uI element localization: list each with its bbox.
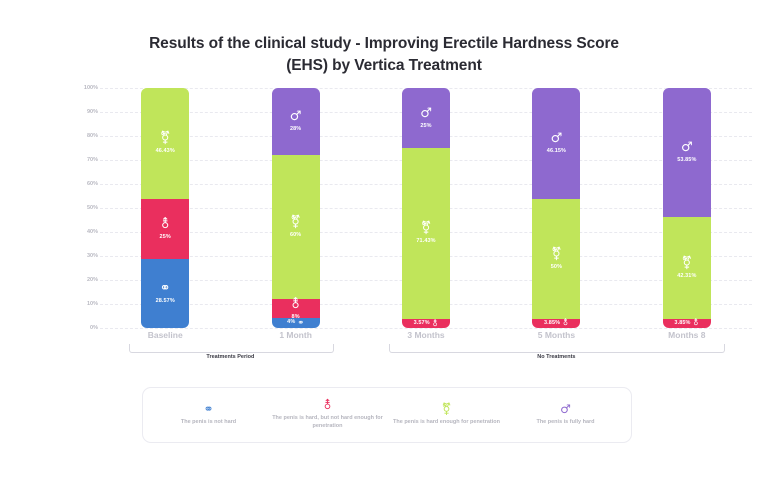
- bar-stack: ♂28%⚧60%⚨8%4%⚭: [272, 88, 320, 328]
- x-axis-labels: Baseline1 Month3 Months5 MonthsMonths 8: [100, 330, 752, 340]
- y-axis-tick-label: 50%: [87, 205, 98, 211]
- bar-stack: ♂46.15%⚧50%3.85%⚨: [532, 88, 580, 328]
- segment-value-label: 50%: [551, 265, 562, 271]
- bracket-line: [129, 344, 334, 353]
- legend-item[interactable]: ⚧The penis is hard enough for penetratio…: [387, 403, 506, 427]
- bar-stack: ♂53.85%⚧42.31%3.85%⚨: [663, 88, 711, 328]
- chart-title-line-2: (EHS) by Vertica Treatment: [0, 55, 768, 77]
- bar-segment[interactable]: ♂28%: [272, 88, 320, 155]
- bar-stack: ⚧46.43%⚨25%⚭28.57%: [141, 88, 189, 328]
- chart-legend: ⚭The penis is not hard⚨The penis is hard…: [142, 387, 632, 443]
- gender-symbol-icon: ⚧: [421, 222, 432, 235]
- legend-symbol-icon: ⚨: [322, 399, 332, 411]
- gender-symbol-icon: ⚧: [551, 248, 562, 261]
- gender-symbol-icon: ♂: [290, 110, 302, 123]
- bar-segment[interactable]: ♂46.15%: [532, 88, 580, 199]
- segment-value-label: 3.85%: [544, 321, 560, 327]
- segment-value-label: 46.15%: [547, 149, 566, 155]
- gender-symbol-icon: ♂: [681, 141, 693, 154]
- gender-symbol-icon: ♂: [551, 132, 563, 145]
- y-axis-tick-label: 60%: [87, 181, 98, 187]
- bar-stack: ♂25%⚧71.43%3.57%⚨: [402, 88, 450, 328]
- legend-symbol-icon: ⚭: [203, 403, 213, 415]
- legend-symbol-icon: ⚧: [441, 403, 451, 415]
- legend-item-label: The penis is hard enough for penetration: [393, 419, 500, 427]
- bar-segment[interactable]: 3.85%⚨: [532, 319, 580, 328]
- period-brackets: Treatments PeriodNo Treatments: [100, 344, 752, 368]
- x-axis-category-label: Baseline: [100, 330, 230, 340]
- segment-value-label: 25%: [420, 124, 431, 130]
- gender-symbol-icon: ⚭: [297, 319, 304, 327]
- segment-value-label: 3.85%: [674, 321, 690, 327]
- bar-segment[interactable]: ⚧46.43%: [141, 88, 189, 199]
- legend-item[interactable]: ⚭The penis is not hard: [149, 403, 268, 427]
- gender-symbol-icon: ⚧: [290, 216, 301, 229]
- x-axis-category-label: 3 Months: [361, 330, 491, 340]
- legend-item-label: The penis is not hard: [181, 419, 236, 427]
- y-axis-tick-label: 30%: [87, 253, 98, 259]
- y-axis-tick-label: 20%: [87, 277, 98, 283]
- legend-item-label: The penis is fully hard: [536, 419, 594, 427]
- legend-item-label: The penis is hard, but not hard enough f…: [272, 415, 383, 431]
- bar-column[interactable]: ♂28%⚧60%⚨8%4%⚭: [230, 88, 360, 328]
- bar-segment[interactable]: 3.57%⚨: [402, 319, 450, 328]
- segment-value-label: 28.57%: [156, 299, 175, 305]
- plot-area: 100%90%80%70%60%50%40%30%20%10%0% ⚧46.43…: [0, 88, 768, 328]
- segment-value-label: 42.31%: [677, 274, 696, 280]
- legend-item[interactable]: ♂The penis is fully hard: [506, 403, 625, 427]
- y-axis: 100%90%80%70%60%50%40%30%20%10%0%: [58, 88, 98, 328]
- gender-symbol-icon: ⚧: [681, 257, 692, 270]
- bar-segment[interactable]: ♂25%: [402, 88, 450, 148]
- bracket-line: [389, 344, 725, 353]
- segment-value-label: 46.43%: [156, 149, 175, 155]
- bar-segment[interactable]: ⚭28.57%: [141, 259, 189, 328]
- legend-symbol-icon: ♂: [560, 403, 571, 415]
- gender-symbol-icon: ⚧: [160, 132, 171, 145]
- bar-segment[interactable]: 3.85%⚨: [663, 319, 711, 328]
- bar-column[interactable]: ⚧46.43%⚨25%⚭28.57%: [100, 88, 230, 328]
- segment-value-label: 4%: [287, 320, 295, 326]
- bracket-label: Treatments Period: [206, 354, 254, 360]
- bar-segment[interactable]: ⚧50%: [532, 199, 580, 319]
- gender-symbol-icon: ⚨: [160, 218, 171, 231]
- bar-segment[interactable]: ⚨8%: [272, 299, 320, 318]
- y-axis-tick-label: 100%: [84, 85, 98, 91]
- legend-item[interactable]: ⚨The penis is hard, but not hard enough …: [268, 399, 387, 431]
- bar-segment[interactable]: ⚧71.43%: [402, 148, 450, 319]
- bar-column[interactable]: ♂25%⚧71.43%3.57%⚨: [361, 88, 491, 328]
- chart-title: Results of the clinical study - Improvin…: [0, 0, 768, 77]
- y-axis-tick-label: 70%: [87, 157, 98, 163]
- bar-segment[interactable]: 4%⚭: [272, 318, 320, 328]
- segment-value-label: 53.85%: [677, 158, 696, 164]
- bar-segment[interactable]: ⚨25%: [141, 199, 189, 259]
- chart-title-line-1: Results of the clinical study - Improvin…: [0, 33, 768, 55]
- gender-symbol-icon: ⚨: [562, 319, 569, 327]
- bar-segment[interactable]: ⚧42.31%: [663, 217, 711, 319]
- gender-symbol-icon: ⚨: [693, 319, 700, 327]
- bar-series-group: ⚧46.43%⚨25%⚭28.57%♂28%⚧60%⚨8%4%⚭♂25%⚧71.…: [100, 88, 752, 328]
- gender-symbol-icon: ⚭: [160, 282, 171, 295]
- gender-symbol-icon: ⚨: [432, 320, 439, 328]
- segment-value-label: 25%: [160, 235, 171, 241]
- y-axis-tick-label: 0%: [90, 325, 98, 331]
- segment-value-label: 60%: [290, 233, 301, 239]
- bar-column[interactable]: ♂53.85%⚧42.31%3.85%⚨: [622, 88, 752, 328]
- y-axis-tick-label: 80%: [87, 133, 98, 139]
- bar-segment[interactable]: ⚧60%: [272, 155, 320, 299]
- x-axis-category-label: 5 Months: [491, 330, 621, 340]
- x-axis-category-label: Months 8: [622, 330, 752, 340]
- segment-value-label: 3.57%: [414, 321, 430, 327]
- y-axis-tick-label: 10%: [87, 301, 98, 307]
- bar-segment[interactable]: ♂53.85%: [663, 88, 711, 217]
- gender-symbol-icon: ⚨: [290, 298, 301, 311]
- bracket-label: No Treatments: [537, 354, 575, 360]
- gender-symbol-icon: ♂: [420, 107, 432, 120]
- x-axis-category-label: 1 Month: [230, 330, 360, 340]
- bar-column[interactable]: ♂46.15%⚧50%3.85%⚨: [491, 88, 621, 328]
- segment-value-label: 28%: [290, 127, 301, 133]
- y-axis-tick-label: 90%: [87, 109, 98, 115]
- y-axis-tick-label: 40%: [87, 229, 98, 235]
- segment-value-label: 71.43%: [416, 239, 435, 245]
